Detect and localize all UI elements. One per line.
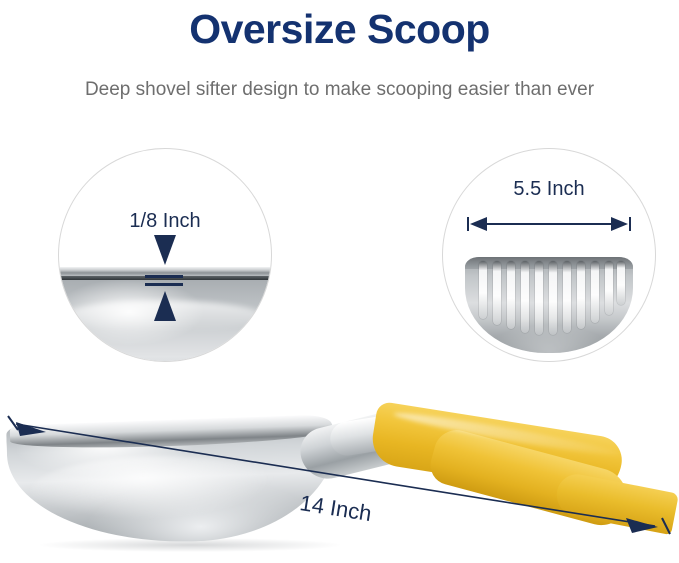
sifter-bottom-shading bbox=[465, 319, 633, 353]
inset-edge-thickness: 1/8 Inch bbox=[58, 148, 272, 362]
dimension-cap-left bbox=[467, 217, 469, 231]
sifter-slot bbox=[605, 261, 613, 315]
dimension-cap-right bbox=[629, 217, 631, 231]
sifter-head-illustration bbox=[465, 257, 633, 353]
product-infographic: Oversize Scoop Deep shovel sifter design… bbox=[0, 0, 679, 563]
arrow-head-right-icon bbox=[611, 217, 628, 231]
sifter-slot bbox=[479, 261, 487, 319]
dimension-arrow-up-icon bbox=[154, 291, 176, 321]
dimension-arrow-down-icon bbox=[154, 235, 176, 265]
dimension-cap-right bbox=[662, 518, 670, 534]
width-dimension-arrow bbox=[467, 217, 631, 231]
width-label: 5.5 Inch bbox=[443, 177, 655, 201]
dimension-shaft bbox=[474, 223, 624, 225]
sifter-slot bbox=[591, 261, 599, 323]
sifter-slot bbox=[617, 261, 625, 305]
arrow-head-left-icon bbox=[16, 422, 46, 436]
thickness-label: 1/8 Inch bbox=[59, 209, 271, 233]
length-dimension-arrow bbox=[0, 398, 679, 563]
inset-head-width: 5.5 Inch bbox=[442, 148, 656, 362]
sifter-slot bbox=[493, 261, 501, 325]
page-subtitle: Deep shovel sifter design to make scoopi… bbox=[0, 78, 679, 102]
page-title: Oversize Scoop bbox=[0, 4, 679, 54]
dimension-gap-bar-top bbox=[145, 275, 183, 278]
dimension-gap-bar-bottom bbox=[145, 283, 183, 286]
arrow-head-left-icon bbox=[470, 217, 487, 231]
